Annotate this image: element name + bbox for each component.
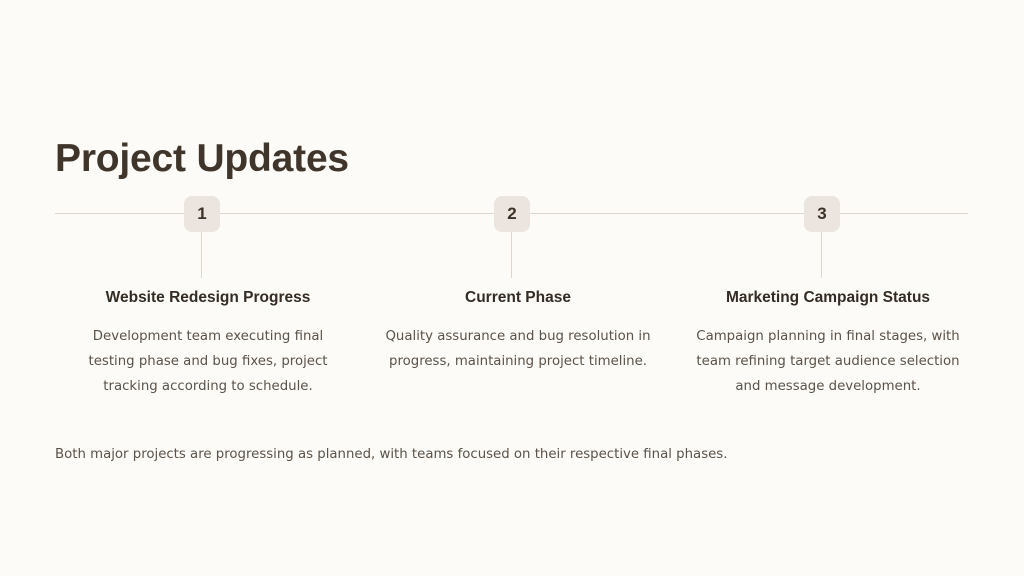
milestone-connector-1 (201, 232, 202, 278)
milestone-number-badge-2[interactable]: 2 (494, 196, 530, 232)
column-heading-1: Website Redesign Progress (73, 288, 343, 308)
timeline-milestone-2[interactable]: 2 (494, 196, 530, 282)
timeline-milestone-3[interactable]: 3 (804, 196, 840, 282)
slide-canvas: Project Updates 1 2 3 Website Redesign P… (0, 0, 1024, 576)
timeline-milestone-1[interactable]: 1 (184, 196, 220, 282)
summary-note: Both major projects are progressing as p… (55, 444, 968, 465)
column-body-1: Development team executing final testing… (73, 324, 343, 399)
milestone-number-badge-3[interactable]: 3 (804, 196, 840, 232)
milestone-number-badge-1[interactable]: 1 (184, 196, 220, 232)
timeline-column-2: Current Phase Quality assurance and bug … (383, 288, 653, 374)
column-body-2: Quality assurance and bug resolution in … (383, 324, 653, 374)
timeline-column-1: Website Redesign Progress Development te… (73, 288, 343, 399)
column-heading-3: Marketing Campaign Status (693, 288, 963, 308)
milestone-connector-2 (511, 232, 512, 278)
page-title: Project Updates (55, 136, 349, 182)
milestone-connector-3 (821, 232, 822, 278)
column-heading-2: Current Phase (383, 288, 653, 308)
timeline: 1 2 3 (55, 196, 968, 282)
column-body-3: Campaign planning in final stages, with … (693, 324, 963, 399)
timeline-column-3: Marketing Campaign Status Campaign plann… (693, 288, 963, 399)
